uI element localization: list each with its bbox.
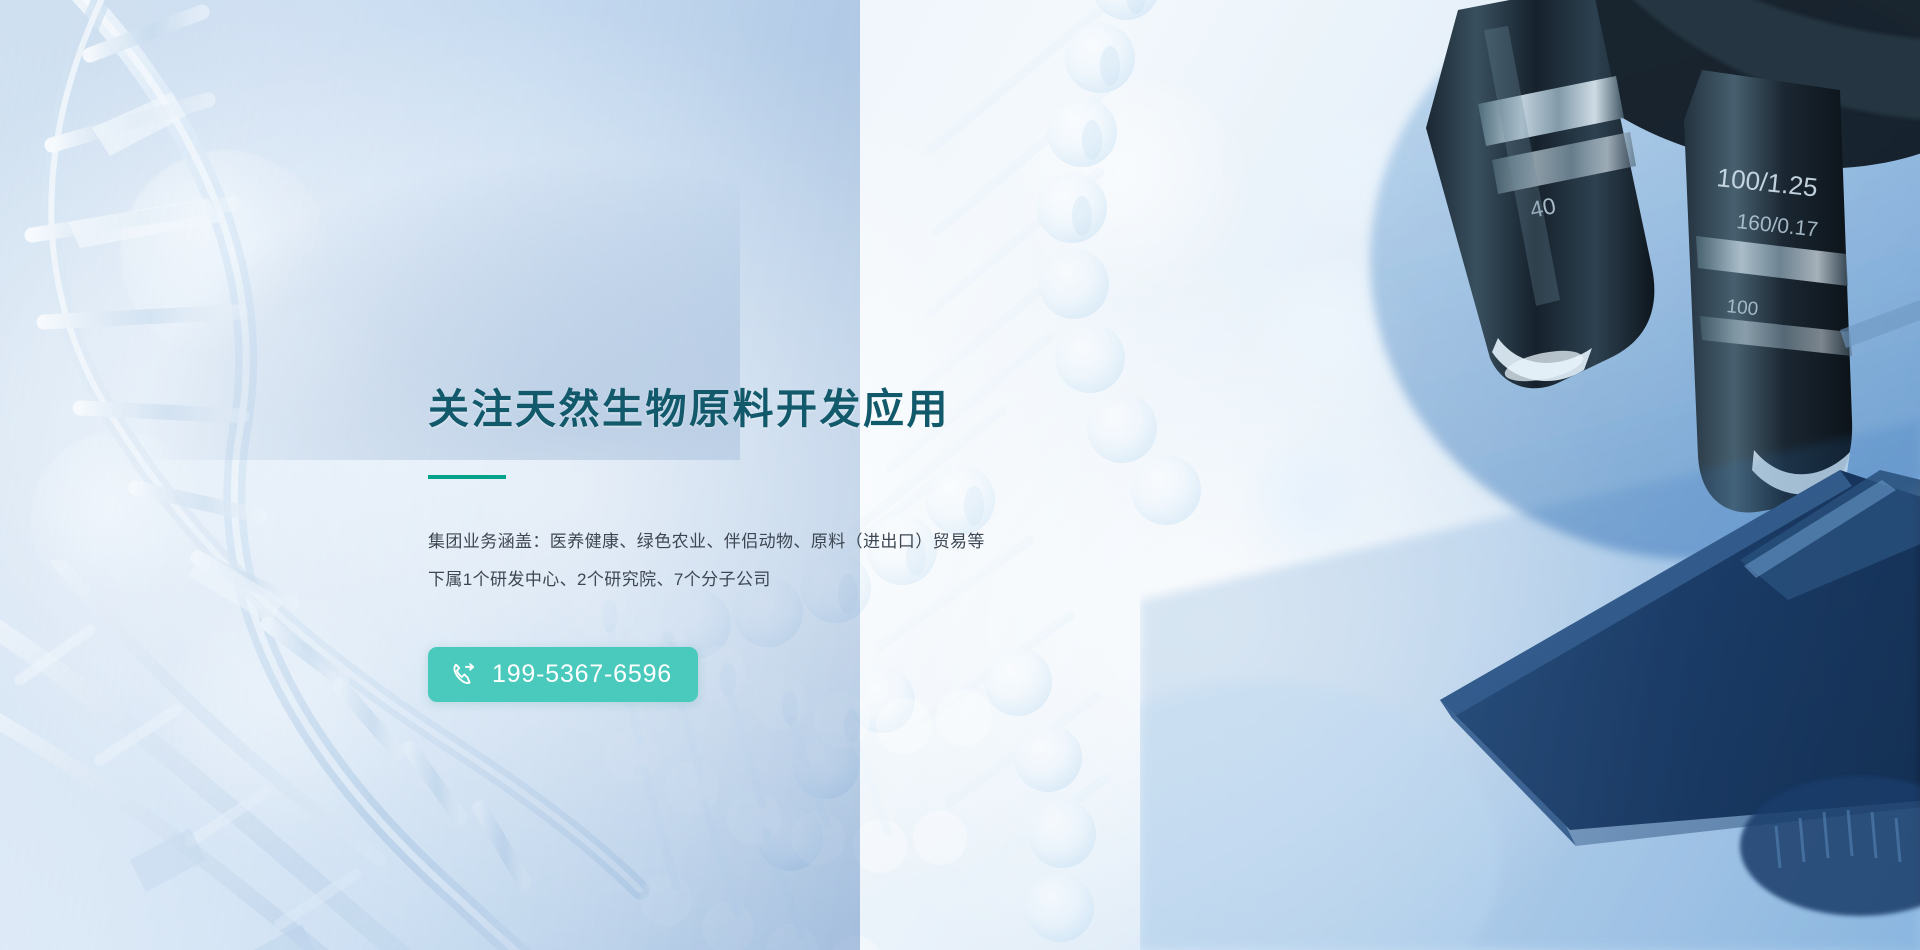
- description-line-1: 集团业务涵盖：医养健康、绿色农业、伴侣动物、原料（进出口）贸易等: [428, 523, 1328, 561]
- hero-banner: 40 100/1.25 160/0.17 100: [0, 0, 1920, 950]
- phone-cta-button[interactable]: 199-5367-6596: [428, 647, 698, 702]
- description-line-2: 下属1个研发中心、2个研究院、7个分子公司: [428, 561, 1328, 599]
- svg-text:100: 100: [1725, 296, 1759, 320]
- hero-content: 关注天然生物原料开发应用 集团业务涵盖：医养健康、绿色农业、伴侣动物、原料（进出…: [428, 385, 1328, 702]
- accent-divider: [428, 475, 506, 479]
- hero-description: 集团业务涵盖：医养健康、绿色农业、伴侣动物、原料（进出口）贸易等 下属1个研发中…: [428, 523, 1328, 599]
- phone-number-label: 199-5367-6596: [492, 662, 672, 687]
- page-title: 关注天然生物原料开发应用: [428, 385, 1328, 433]
- phone-forward-icon: [450, 660, 479, 689]
